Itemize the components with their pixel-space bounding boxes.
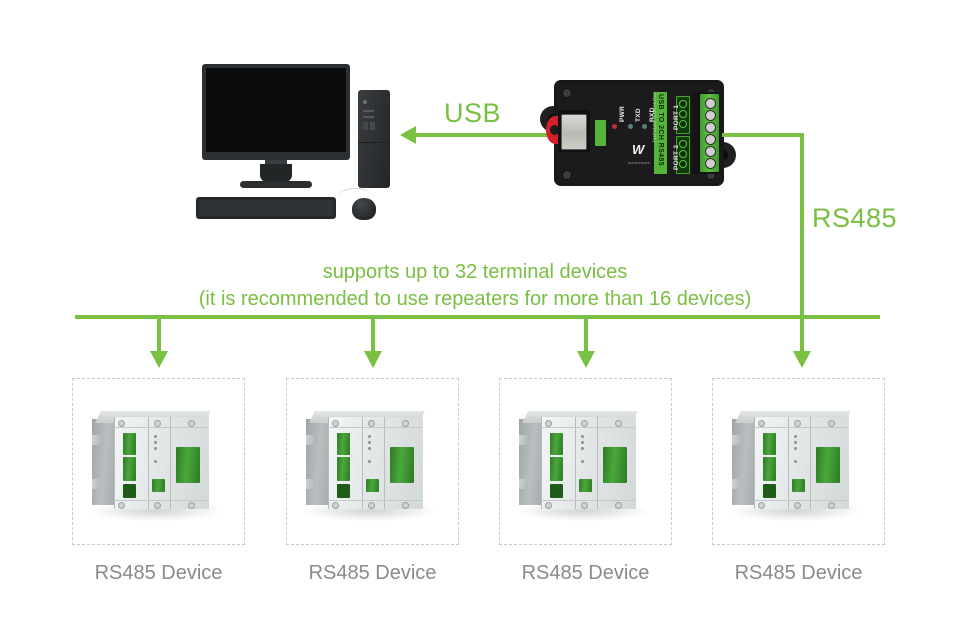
device-top-edge	[754, 427, 848, 428]
rs485-connection-label: RS485	[812, 203, 897, 234]
device-indicator-led	[154, 460, 157, 463]
device-indicator-led	[794, 435, 797, 438]
device-indicator-led	[154, 441, 157, 444]
device-terminal-mid	[550, 457, 563, 481]
device-side-panel	[519, 419, 541, 505]
rs485-bus-line	[75, 315, 880, 319]
terminal-screw	[705, 134, 716, 145]
device-indicator-led	[794, 447, 797, 450]
product-name-label: USB TO 2CH RS485	[657, 94, 664, 97]
device-card-separator	[810, 417, 811, 509]
device-terminal-upper	[337, 433, 350, 455]
device-card-separator	[384, 417, 385, 509]
device-terminal-center	[792, 479, 805, 492]
device-terminal-mid	[763, 457, 776, 481]
device-screw	[332, 502, 339, 509]
monitor-stand-column	[260, 164, 292, 182]
device-mount-ear	[306, 435, 314, 445]
bus-note-line-2: (it is recommended to use repeaters for …	[140, 286, 810, 313]
device-screw	[828, 502, 835, 509]
usb-type-b-connector	[561, 114, 587, 150]
monitor-base	[240, 181, 312, 188]
device-card-separator	[788, 417, 789, 509]
device-terminal-right	[176, 447, 200, 483]
device-terminal-mid	[337, 457, 350, 481]
device-screw	[758, 420, 765, 427]
device-terminal-right	[603, 447, 627, 483]
enclosure-screw	[562, 88, 572, 98]
device-screw	[118, 502, 125, 509]
tower-port-row	[363, 110, 374, 112]
terminal-screw	[705, 98, 716, 109]
device-card-separator	[170, 417, 171, 509]
port-1-hole	[679, 100, 687, 108]
rs485-arrow-head-device4	[793, 351, 811, 368]
device-screw	[545, 420, 552, 427]
device-screw	[402, 420, 409, 427]
rs485-arrow-head-device1	[150, 351, 168, 368]
device-indicator-led	[794, 460, 797, 463]
device-terminal-lower	[550, 484, 563, 498]
device-terminal-upper	[123, 433, 136, 455]
enclosure-screw	[562, 170, 572, 180]
rs485-arrow-head-device3	[577, 351, 595, 368]
waveshare-logo-icon: W	[632, 142, 643, 157]
device-screw	[828, 420, 835, 427]
bus-note-line-1: supports up to 32 terminal devices	[140, 259, 810, 286]
computer-tower	[358, 90, 390, 188]
device-label-3: RS485 Device	[499, 562, 672, 585]
usb-to-rs485-converter: USB PWR TXD RXD USB TO 2CH RS485 Isolate…	[540, 80, 736, 192]
port-2-label: PORT 2	[673, 145, 680, 170]
device-terminal-right	[816, 447, 840, 483]
device-bottom-edge	[541, 500, 635, 501]
device-card-separator	[362, 417, 363, 509]
device-mount-ear	[519, 435, 527, 445]
device-mount-ear	[92, 435, 100, 445]
usb-port-tag-label: USB	[588, 120, 595, 131]
device-indicator-led	[581, 460, 584, 463]
device-screw	[368, 420, 375, 427]
device-card-separator	[148, 417, 149, 509]
device-indicator-led	[794, 441, 797, 444]
device-mount-ear	[92, 479, 100, 489]
rxd-led	[642, 124, 647, 129]
monitor-screen	[206, 68, 346, 152]
rs485-device-art-1	[92, 405, 227, 520]
device-screw	[794, 420, 801, 427]
device-card-separator	[575, 417, 576, 509]
rs485-arrow-head-device2	[364, 351, 382, 368]
terminal-screw	[705, 158, 716, 169]
device-mount-ear	[732, 479, 740, 489]
device-screw	[188, 502, 195, 509]
device-terminal-center	[366, 479, 379, 492]
device-terminal-upper	[763, 433, 776, 455]
device-label-2: RS485 Device	[286, 562, 459, 585]
computer-illustration	[186, 64, 411, 229]
device-screw	[154, 502, 161, 509]
device-side-panel	[306, 419, 328, 505]
mouse	[352, 198, 376, 220]
device-screw	[368, 502, 375, 509]
diagram-canvas: USB USB PWR TXD RXD USB TO 2CH RS485	[0, 0, 960, 628]
device-screw	[188, 420, 195, 427]
rs485-wire-top	[722, 133, 804, 137]
device-screw	[758, 502, 765, 509]
device-indicator-led	[368, 447, 371, 450]
port-1-hole	[679, 110, 687, 118]
device-card-separator	[597, 417, 598, 509]
device-label-1: RS485 Device	[72, 562, 245, 585]
rs485-device-art-3	[519, 405, 654, 520]
device-top-edge	[114, 427, 208, 428]
usb-connection-label: USB	[444, 98, 501, 129]
device-indicator-led	[154, 447, 157, 450]
device-mount-ear	[732, 435, 740, 445]
pwr-led	[612, 124, 617, 129]
device-mount-ear	[519, 479, 527, 489]
device-screw	[402, 502, 409, 509]
port-2-hole	[679, 160, 687, 168]
device-bottom-edge	[328, 500, 422, 501]
device-terminal-center	[152, 479, 165, 492]
device-terminal-lower	[123, 484, 136, 498]
tower-vent	[363, 122, 368, 130]
port-2-hole	[679, 140, 687, 148]
device-screw	[118, 420, 125, 427]
device-screw	[332, 420, 339, 427]
device-screw	[581, 502, 588, 509]
device-indicator-led	[154, 435, 157, 438]
device-indicator-led	[368, 460, 371, 463]
device-terminal-mid	[123, 457, 136, 481]
device-side-panel	[732, 419, 754, 505]
tower-port-row	[363, 116, 374, 118]
bus-capacity-note: supports up to 32 terminal devices (it i…	[140, 259, 810, 313]
port-1-label: PORT 1	[673, 105, 680, 130]
device-screw	[615, 420, 622, 427]
txd-led	[628, 124, 633, 129]
terminal-screw	[705, 146, 716, 157]
keyboard-keys	[199, 200, 333, 216]
device-indicator-led	[368, 435, 371, 438]
terminal-screw	[705, 110, 716, 121]
device-top-edge	[328, 427, 422, 428]
device-terminal-center	[579, 479, 592, 492]
port-2-hole	[679, 150, 687, 158]
port-1-hole	[679, 120, 687, 128]
usb-arrow-head	[400, 126, 416, 144]
converter-subtitle: Isolated Converter	[652, 92, 658, 142]
device-terminal-lower	[337, 484, 350, 498]
device-terminal-upper	[550, 433, 563, 455]
device-terminal-lower	[763, 484, 776, 498]
tower-power-button	[363, 100, 367, 104]
device-bottom-edge	[114, 500, 208, 501]
terminal-screw	[705, 122, 716, 133]
device-screw	[794, 502, 801, 509]
device-indicator-led	[581, 447, 584, 450]
rs485-device-art-2	[306, 405, 441, 520]
tower-vent	[370, 122, 375, 130]
device-bottom-edge	[754, 500, 848, 501]
waveshare-brand-text: waveshare	[628, 160, 650, 165]
rs485-drop-device3	[584, 315, 588, 351]
device-screw	[154, 420, 161, 427]
device-indicator-led	[581, 435, 584, 438]
device-indicator-led	[368, 441, 371, 444]
device-indicator-led	[581, 441, 584, 444]
rs485-drop-device1	[157, 315, 161, 351]
usb-wire	[415, 133, 548, 137]
device-mount-ear	[306, 479, 314, 489]
rs485-drop-device2	[371, 315, 375, 351]
txd-led-label: TXD	[635, 108, 642, 122]
rs485-device-art-4	[732, 405, 867, 520]
device-label-4: RS485 Device	[712, 562, 885, 585]
tower-seam	[358, 142, 390, 143]
device-screw	[545, 502, 552, 509]
device-screw	[615, 502, 622, 509]
device-side-panel	[92, 419, 114, 505]
usb-port-tag: USB	[595, 120, 606, 146]
device-screw	[581, 420, 588, 427]
pwr-led-label: PWR	[619, 106, 626, 122]
device-top-edge	[541, 427, 635, 428]
device-terminal-right	[390, 447, 414, 483]
